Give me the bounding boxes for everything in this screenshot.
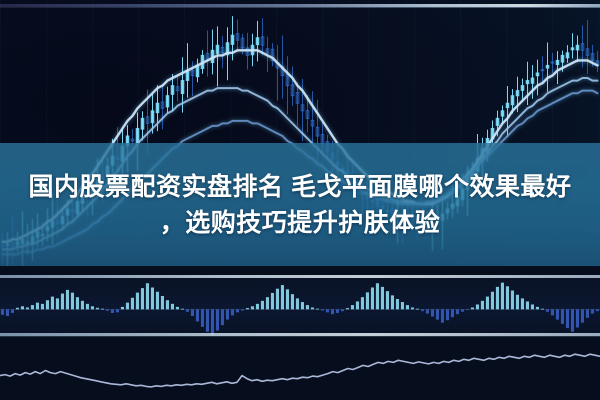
panel-divider-bottom <box>0 333 600 336</box>
stock-banner-image: 国内股票配资实盘排名 毛戈平面膜哪个效果最好 ，选购技巧提升护肤体验 <box>0 0 600 400</box>
headline-line-2: ，选购技巧提升护肤体验 <box>160 205 441 241</box>
indicator-line-series <box>0 354 600 387</box>
headline-text-block: 国内股票配资实盘排名 毛戈平面膜哪个效果最好 ，选购技巧提升护肤体验 <box>0 143 600 266</box>
macd-histogram-svg <box>0 278 600 336</box>
indicator-line-panel <box>0 337 600 400</box>
indicator-line-svg <box>0 337 600 400</box>
headline-line-1: 国内股票配资实盘排名 毛戈平面膜哪个效果最好 <box>29 169 572 205</box>
macd-bar-series <box>0 283 600 336</box>
top-rule-secondary <box>0 7 600 8</box>
macd-histogram-panel <box>0 278 600 336</box>
